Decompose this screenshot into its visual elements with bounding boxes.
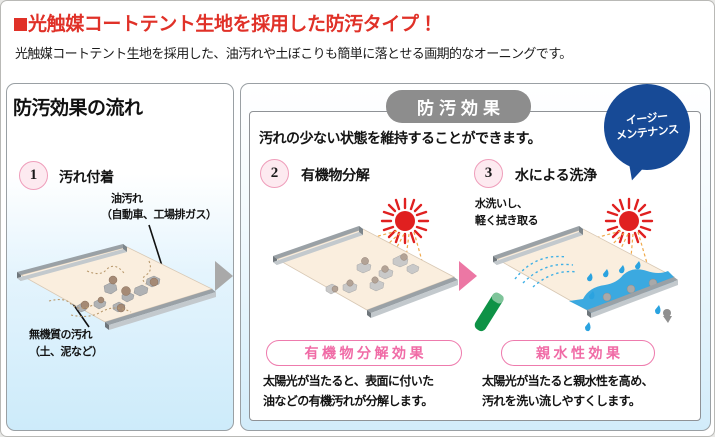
step-3-number: 3	[474, 159, 503, 188]
sun-icon	[606, 199, 652, 243]
step-1-number: 1	[19, 161, 48, 190]
sun-icon	[382, 199, 428, 243]
callout-mineral-line2: （土、泥など）	[29, 346, 103, 360]
step-3-label: 水による洗浄	[515, 165, 597, 185]
anti-fouling-heading-pill: 防汚効果	[386, 90, 531, 123]
step-2-desc-line1: 太陽光が当たると、表面に付いた	[263, 373, 434, 390]
step-3-desc-line1: 太陽光が当たると親水性を高め、	[482, 373, 653, 390]
step-2-desc-line2: 油などの有機汚れが分解します。	[263, 393, 433, 410]
page-title: 光触媒コートテント生地を採用した防汚タイプ！	[14, 9, 437, 36]
step-2-number: 2	[260, 159, 289, 188]
awning-illustration-step2	[257, 197, 469, 329]
step-2-label: 有機物分解	[301, 165, 370, 185]
hydrophilic-effect-pill: 親水性効果	[501, 340, 655, 366]
right-panel-lead: 汚れの少ない状態を維持することができます。	[259, 128, 541, 148]
infographic-root: 光触媒コートテント生地を採用した防汚タイプ！ 光触媒コートテント生地を採用した、…	[0, 0, 715, 437]
callout-mineral-line1: 無機質の汚れ	[29, 329, 92, 343]
awning-illustration-step3	[471, 197, 699, 333]
callout-oil-line2: （自動車、工場排ガス）	[101, 209, 217, 223]
page-title-text: 光触媒コートテント生地を採用した防汚タイプ！	[28, 14, 437, 35]
arrow-step1-to-step2-icon	[215, 261, 233, 291]
page-subtitle: 光触媒コートテント生地を採用した、油汚れや土ぼこりも簡単に落とせる画期的なオーニ…	[15, 43, 572, 62]
organic-decomposition-effect-pill: 有機物分解効果	[266, 340, 462, 366]
callout-oil-line1: 油汚れ	[111, 193, 143, 207]
badge-line2: メンテナンス	[615, 124, 679, 144]
step-1-label: 汚れ付着	[59, 167, 114, 187]
square-marker-icon	[14, 18, 27, 31]
step-3-desc-line2: 汚れを洗い流しやすくします。	[482, 393, 640, 410]
easy-maintenance-badge: イージー メンテナンス	[604, 84, 690, 170]
green-cloth-icon	[473, 291, 505, 333]
flow-title: 防汚効果の流れ	[13, 93, 143, 120]
awning-illustration-step1	[9, 239, 224, 331]
